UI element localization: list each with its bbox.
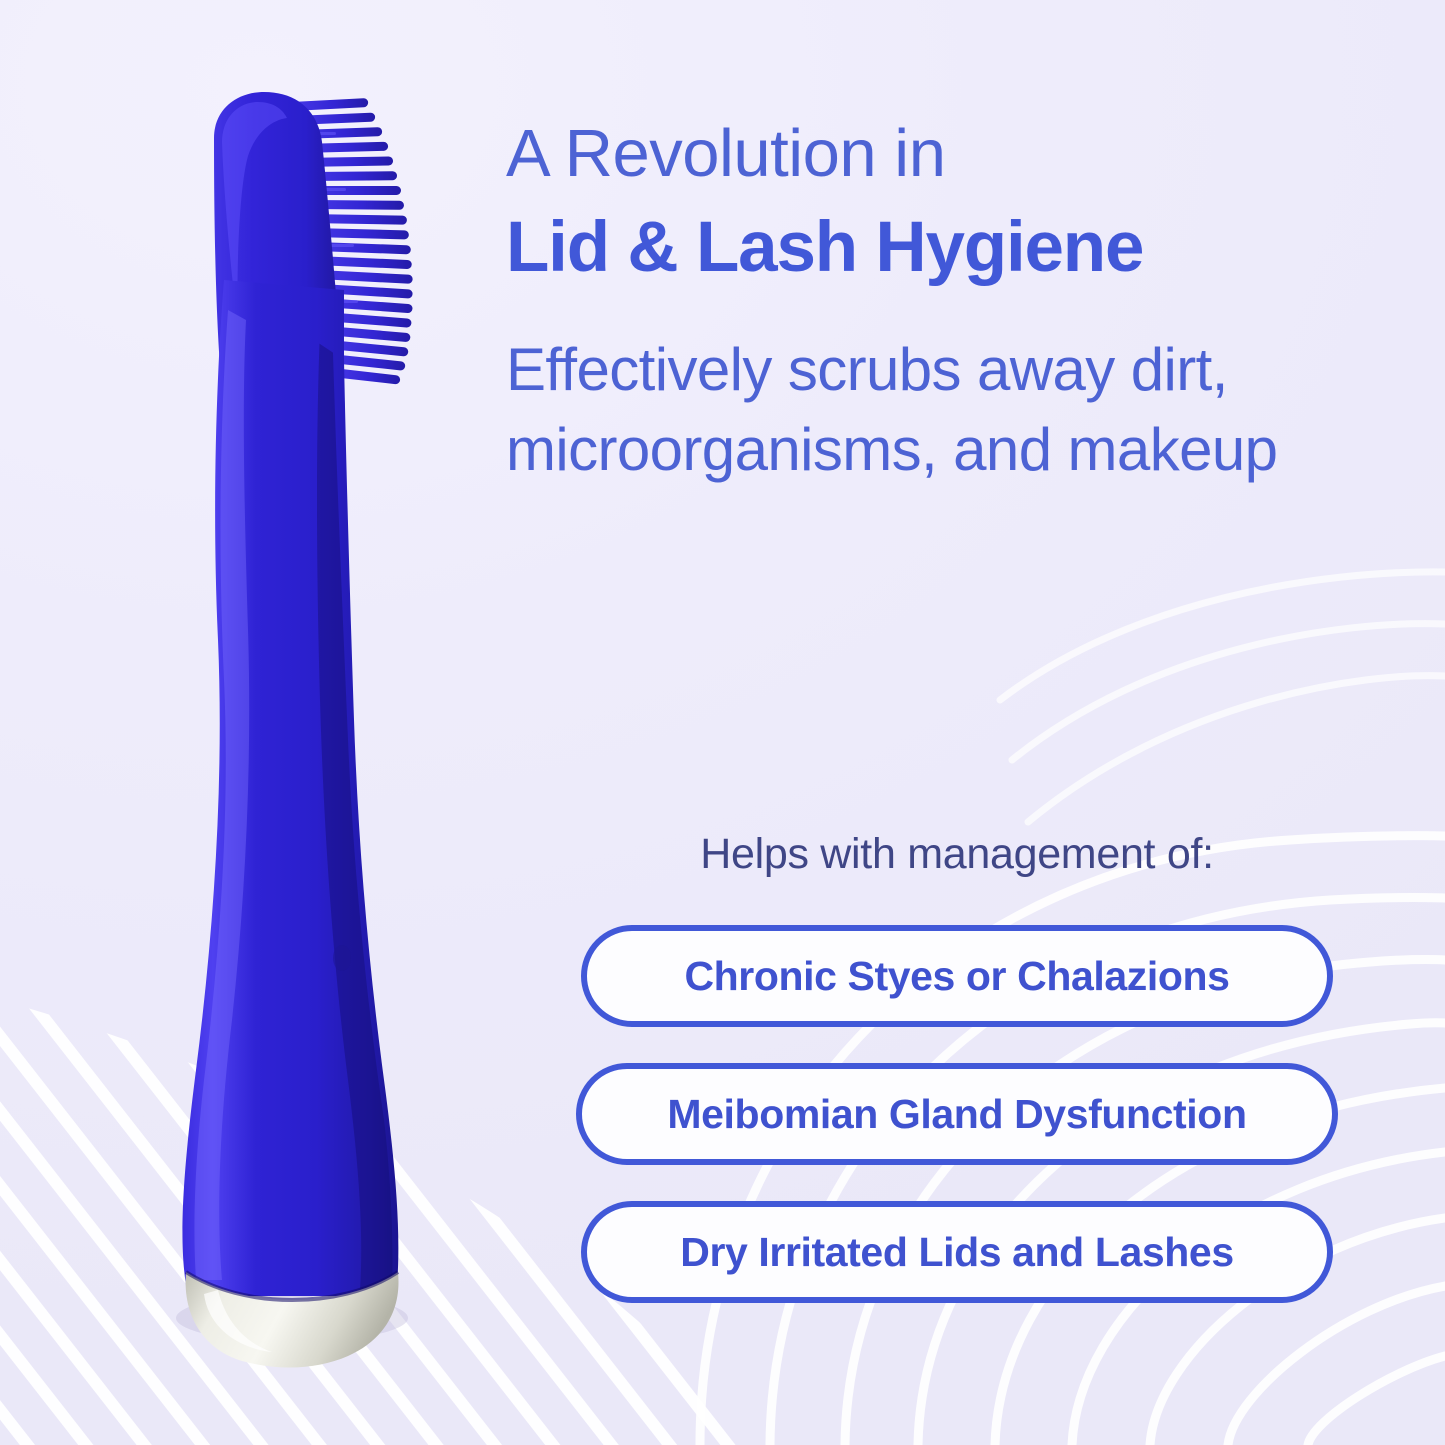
benefit-pill-label: Dry Irritated Lids and Lashes — [680, 1229, 1233, 1276]
hero-eyebrow: A Revolution in — [506, 118, 1376, 190]
benefit-pill-chronic-styes[interactable]: Chronic Styes or Chalazions — [581, 925, 1333, 1027]
benefit-pill-label: Meibomian Gland Dysfunction — [667, 1091, 1246, 1138]
product-emboss-mark — [333, 945, 351, 971]
product-image — [96, 80, 466, 1370]
hero-text-block: A Revolution in Lid & Lash Hygiene Effec… — [506, 118, 1376, 489]
product-marketing-banner: A Revolution in Lid & Lash Hygiene Effec… — [0, 0, 1445, 1445]
benefits-block: Helps with management of: Chronic Styes … — [562, 830, 1352, 1303]
benefit-pill-dry-irritated-lids[interactable]: Dry Irritated Lids and Lashes — [581, 1201, 1333, 1303]
benefit-pill-meibomian-gland-dysfunction[interactable]: Meibomian Gland Dysfunction — [576, 1063, 1338, 1165]
hero-subcopy: Effectively scrubs away dirt, microorgan… — [506, 330, 1366, 490]
benefit-pill-label: Chronic Styes or Chalazions — [684, 953, 1229, 1000]
benefits-label: Helps with management of: — [562, 830, 1352, 879]
hero-headline: Lid & Lash Hygiene — [506, 208, 1376, 288]
